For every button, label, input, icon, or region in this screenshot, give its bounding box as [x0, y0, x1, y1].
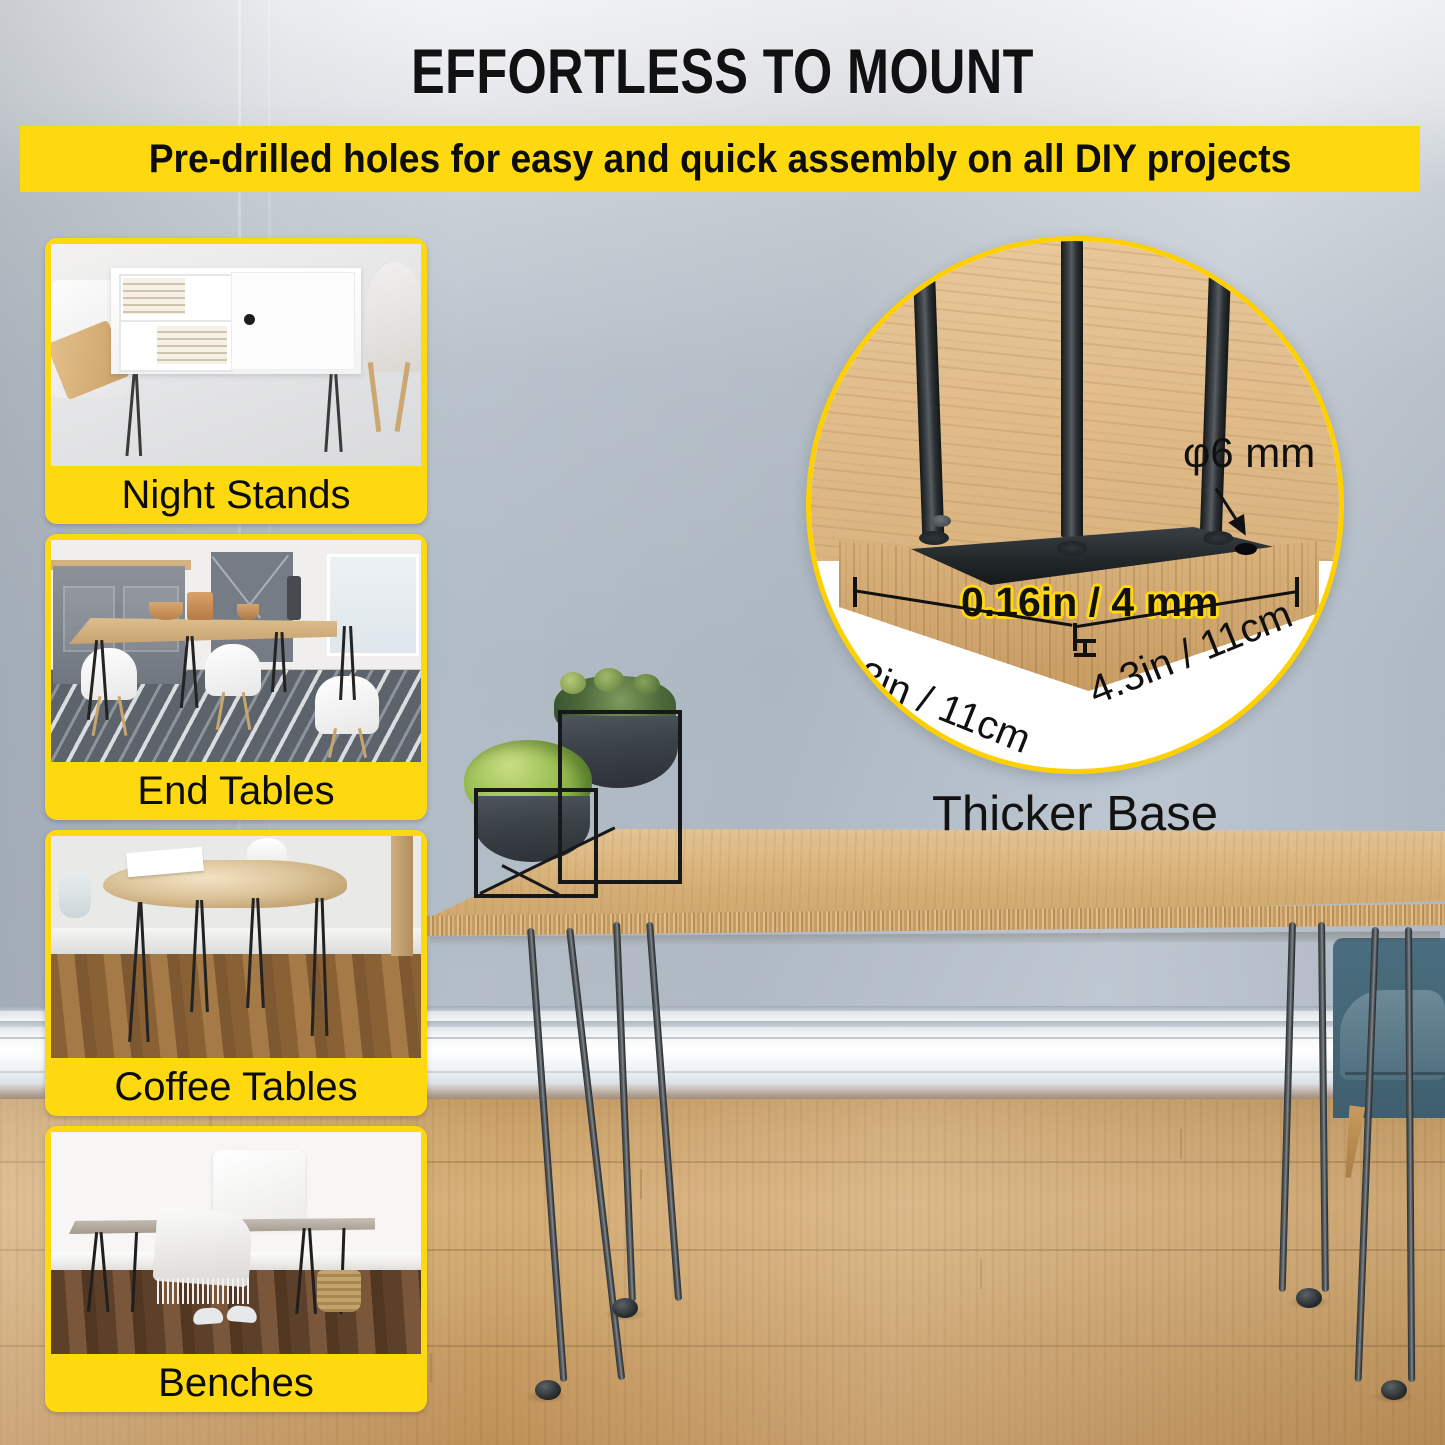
use-case-card[interactable]: End Tables: [45, 534, 427, 820]
subtitle-text: Pre-drilled holes for easy and quick ass…: [69, 126, 1371, 192]
page-title: EFFORTLESS TO MOUNT: [145, 36, 1301, 108]
card-label: Night Stands: [51, 466, 421, 524]
card-label: Coffee Tables: [51, 1058, 421, 1116]
card-label: End Tables: [51, 762, 421, 820]
sofa-seam: [1345, 1072, 1445, 1075]
card-label: Benches: [51, 1354, 421, 1412]
subtitle-banner: Pre-drilled holes for easy and quick ass…: [20, 126, 1420, 192]
use-case-card[interactable]: Benches: [45, 1126, 427, 1412]
card-photo-coffee-tables: [51, 836, 421, 1058]
planter-stand: [462, 668, 642, 898]
product-infographic: EFFORTLESS TO MOUNT Pre-drilled holes fo…: [0, 0, 1445, 1445]
pre-drilled-hole: [1235, 543, 1257, 555]
use-case-card-list: Night Stands: [45, 238, 427, 1422]
sofa-arm: [1340, 990, 1445, 1080]
detail-zoom-callout: φ6 mm 0.16in / 4 mm 4.3in / 11cm 4.3in /…: [806, 236, 1344, 774]
card-photo-end-tables: [51, 540, 421, 762]
screw-head: [931, 515, 951, 527]
hairpin-rod: [1061, 236, 1083, 537]
hole-diameter-label: φ6 mm: [1183, 429, 1315, 477]
use-case-card[interactable]: Coffee Tables: [45, 830, 427, 1116]
card-photo-benches: [51, 1132, 421, 1354]
use-case-card[interactable]: Night Stands: [45, 238, 427, 524]
card-photo-night-stands: [51, 244, 421, 466]
lower-pot: [474, 796, 590, 862]
callout-caption: Thicker Base: [806, 786, 1344, 842]
plate-thickness-label: 0.16in / 4 mm: [961, 579, 1219, 626]
